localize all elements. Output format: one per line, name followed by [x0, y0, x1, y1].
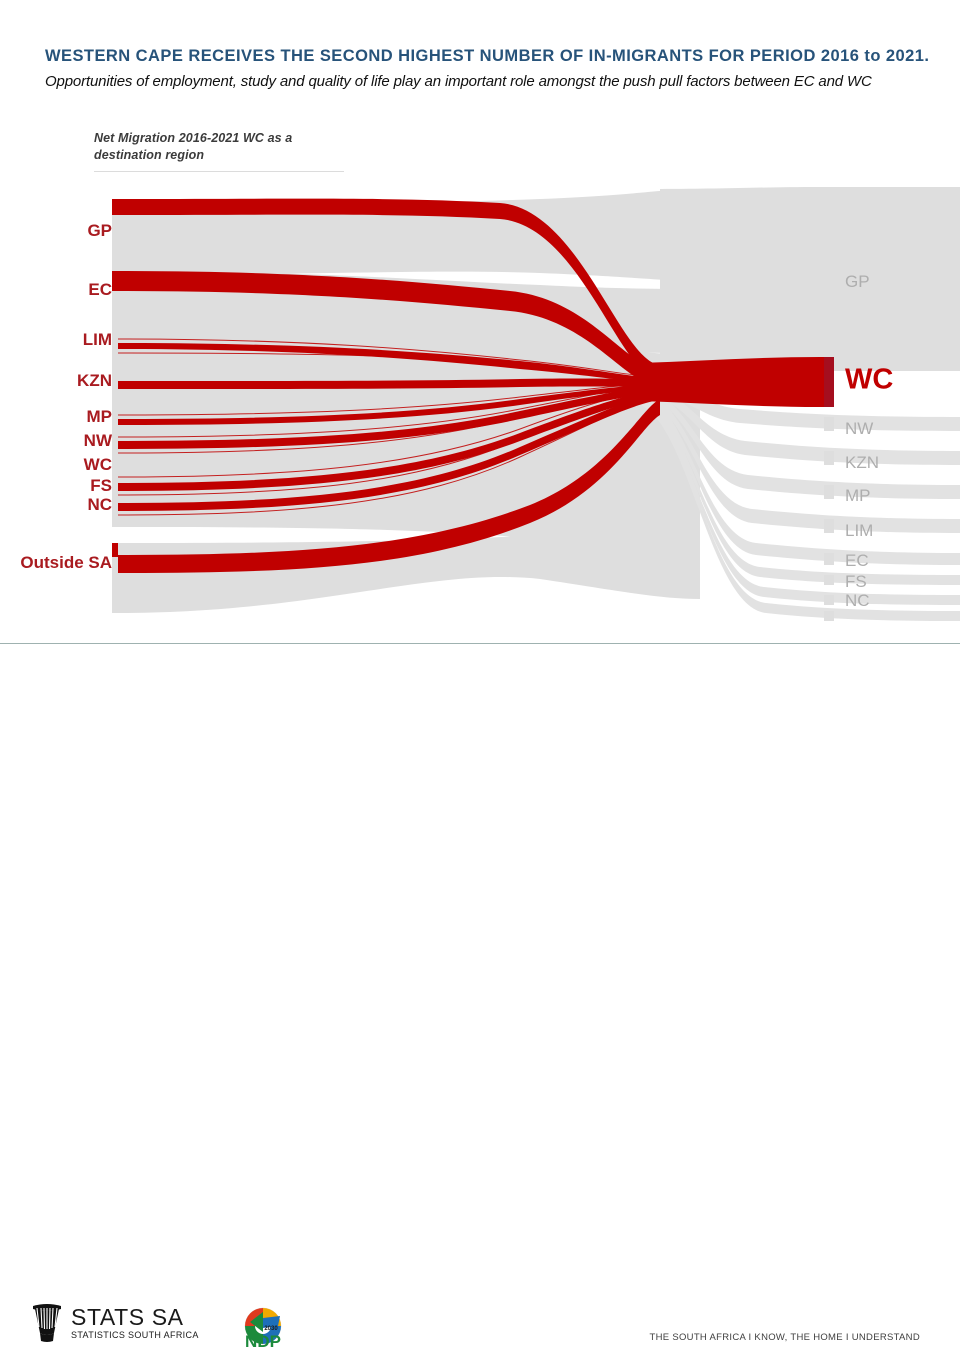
chart-caption: Net Migration 2016-2021 WC as a destinat…	[94, 130, 344, 172]
node-bar	[824, 417, 834, 431]
wc-trunk	[640, 357, 830, 407]
flow-ribbon-red-trunk	[640, 357, 830, 407]
node-bar-highlight	[112, 271, 118, 291]
node-bar	[824, 485, 834, 499]
sankey-label-wc[interactable]: WC	[84, 455, 112, 475]
ndp-logo: 2030 NDP	[238, 1306, 288, 1350]
sankey-label-nw[interactable]: NW	[84, 431, 112, 451]
headline: WESTERN CAPE RECEIVES THE SECOND HIGHEST…	[45, 44, 930, 94]
node-bar	[112, 499, 118, 527]
sankey-dest-label-lim[interactable]: LIM	[845, 521, 873, 541]
sankey-canvas	[0, 185, 960, 635]
node-bar	[824, 611, 834, 621]
sankey-label-kzn[interactable]: KZN	[77, 371, 112, 391]
sankey-destination-labels: GP WC NW KZN MP LIM EC FS NC	[845, 185, 960, 635]
node-bar	[824, 595, 834, 605]
node-bar-highlight	[824, 357, 834, 407]
sankey-dest-label-nw[interactable]: NW	[845, 419, 873, 439]
node-bar	[824, 519, 834, 533]
sankey-diagram	[0, 185, 960, 635]
sankey-source-labels: GP EC LIM KZN MP NW WC FS NC Outside SA	[0, 185, 112, 635]
node-bar	[824, 553, 834, 565]
footer: STATS SA STATISTICS SOUTH AFRICA 2030 ND…	[0, 644, 960, 720]
sankey-label-ec[interactable]: EC	[88, 280, 112, 300]
sankey-dest-label-wc[interactable]: WC	[845, 364, 893, 397]
sankey-dest-label-gp[interactable]: GP	[845, 272, 870, 292]
sankey-label-lim[interactable]: LIM	[83, 330, 112, 350]
node-bar	[824, 575, 834, 585]
sankey-label-gp[interactable]: GP	[87, 221, 112, 241]
node-bars-right	[824, 187, 834, 621]
sankey-label-fs[interactable]: FS	[90, 476, 112, 496]
sankey-dest-label-nc[interactable]: NC	[845, 591, 870, 611]
node-bar	[824, 187, 834, 371]
headline-kicker: WESTERN CAPE RECEIVES THE SECOND HIGHEST…	[45, 47, 929, 65]
sankey-dest-label-ec[interactable]: EC	[845, 551, 869, 571]
sankey-label-nc[interactable]: NC	[87, 495, 112, 515]
page-title: WESTERN CAPE RECEIVES THE SECOND HIGHEST…	[45, 44, 930, 94]
node-bar	[824, 451, 834, 465]
sankey-dest-label-kzn[interactable]: KZN	[845, 453, 879, 473]
node-bar-highlight	[112, 199, 118, 215]
sankey-dest-label-fs[interactable]: FS	[845, 572, 867, 592]
statssa-title: STATS SA	[71, 1306, 199, 1329]
node-bars-left	[112, 199, 118, 613]
sankey-label-mp[interactable]: MP	[87, 407, 113, 427]
footer-tagline: THE SOUTH AFRICA I KNOW, THE HOME I UNDE…	[0, 1332, 920, 1343]
sankey-label-outside-sa[interactable]: Outside SA	[20, 553, 112, 573]
sankey-dest-label-mp[interactable]: MP	[845, 486, 871, 506]
node-bar-highlight	[112, 543, 118, 557]
slide-canvas: WESTERN CAPE RECEIVES THE SECOND HIGHEST…	[0, 0, 960, 720]
headline-lede: Opportunities of employment, study and q…	[45, 73, 872, 90]
